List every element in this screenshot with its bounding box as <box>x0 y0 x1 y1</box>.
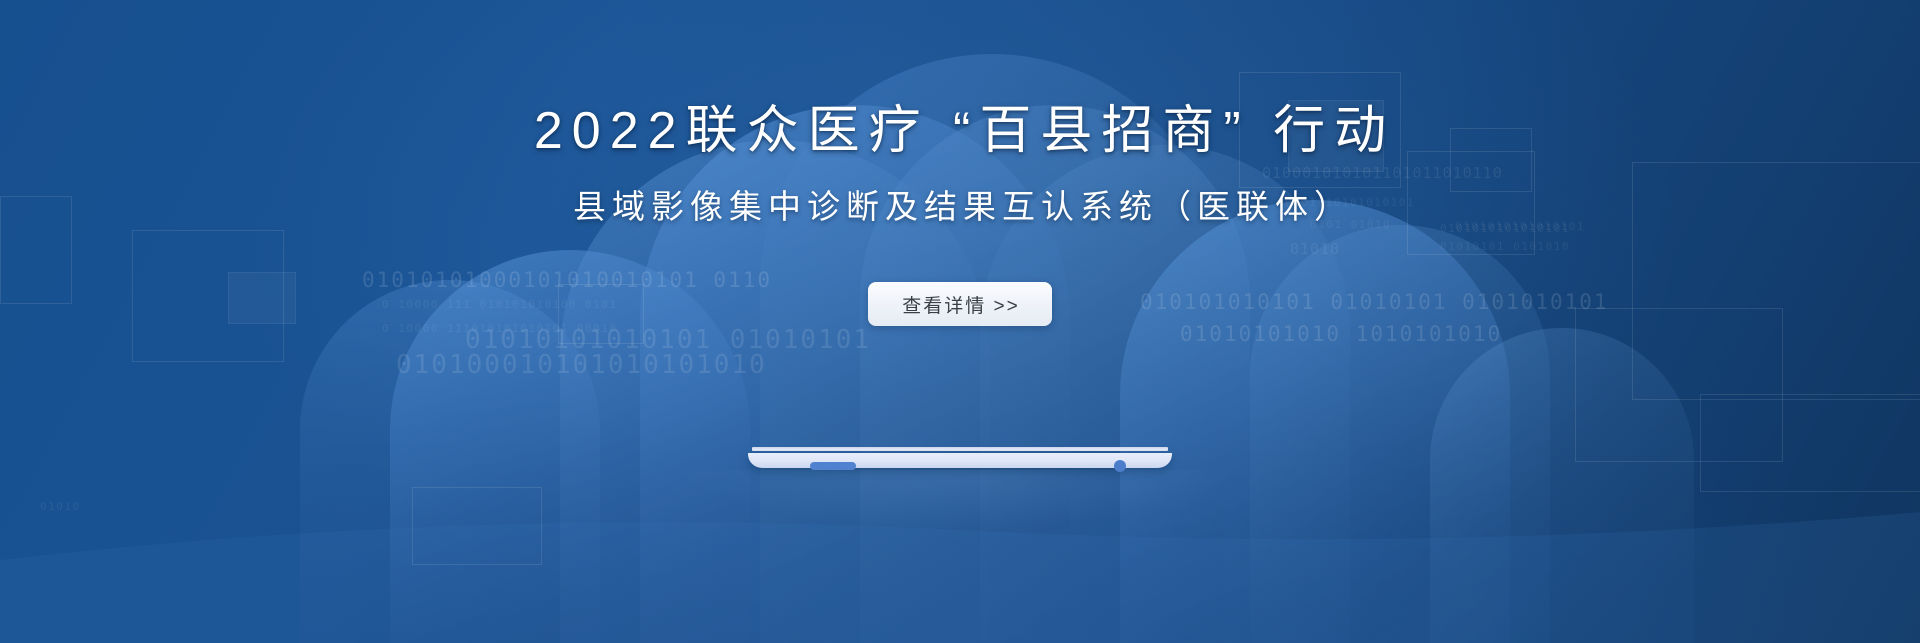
device-camera-icon <box>1114 460 1126 472</box>
device-screen-edge <box>752 447 1168 451</box>
device-body <box>748 453 1172 468</box>
banner-content: 2022联众医疗 “百县招商” 行动 县域影像集中诊断及结果互认系统（医联体） … <box>0 0 1920 643</box>
tablet-device <box>748 447 1172 473</box>
device-speaker-icon <box>810 462 856 470</box>
promo-banner: 01010101000101010010101 0110 0 10000 111… <box>0 0 1920 643</box>
banner-title: 2022联众医疗 “百县招商” 行动 <box>525 103 1395 160</box>
view-details-button[interactable]: 查看详情 >> <box>868 282 1052 326</box>
banner-subtitle: 县域影像集中诊断及结果互认系统（医联体） <box>567 188 1353 226</box>
